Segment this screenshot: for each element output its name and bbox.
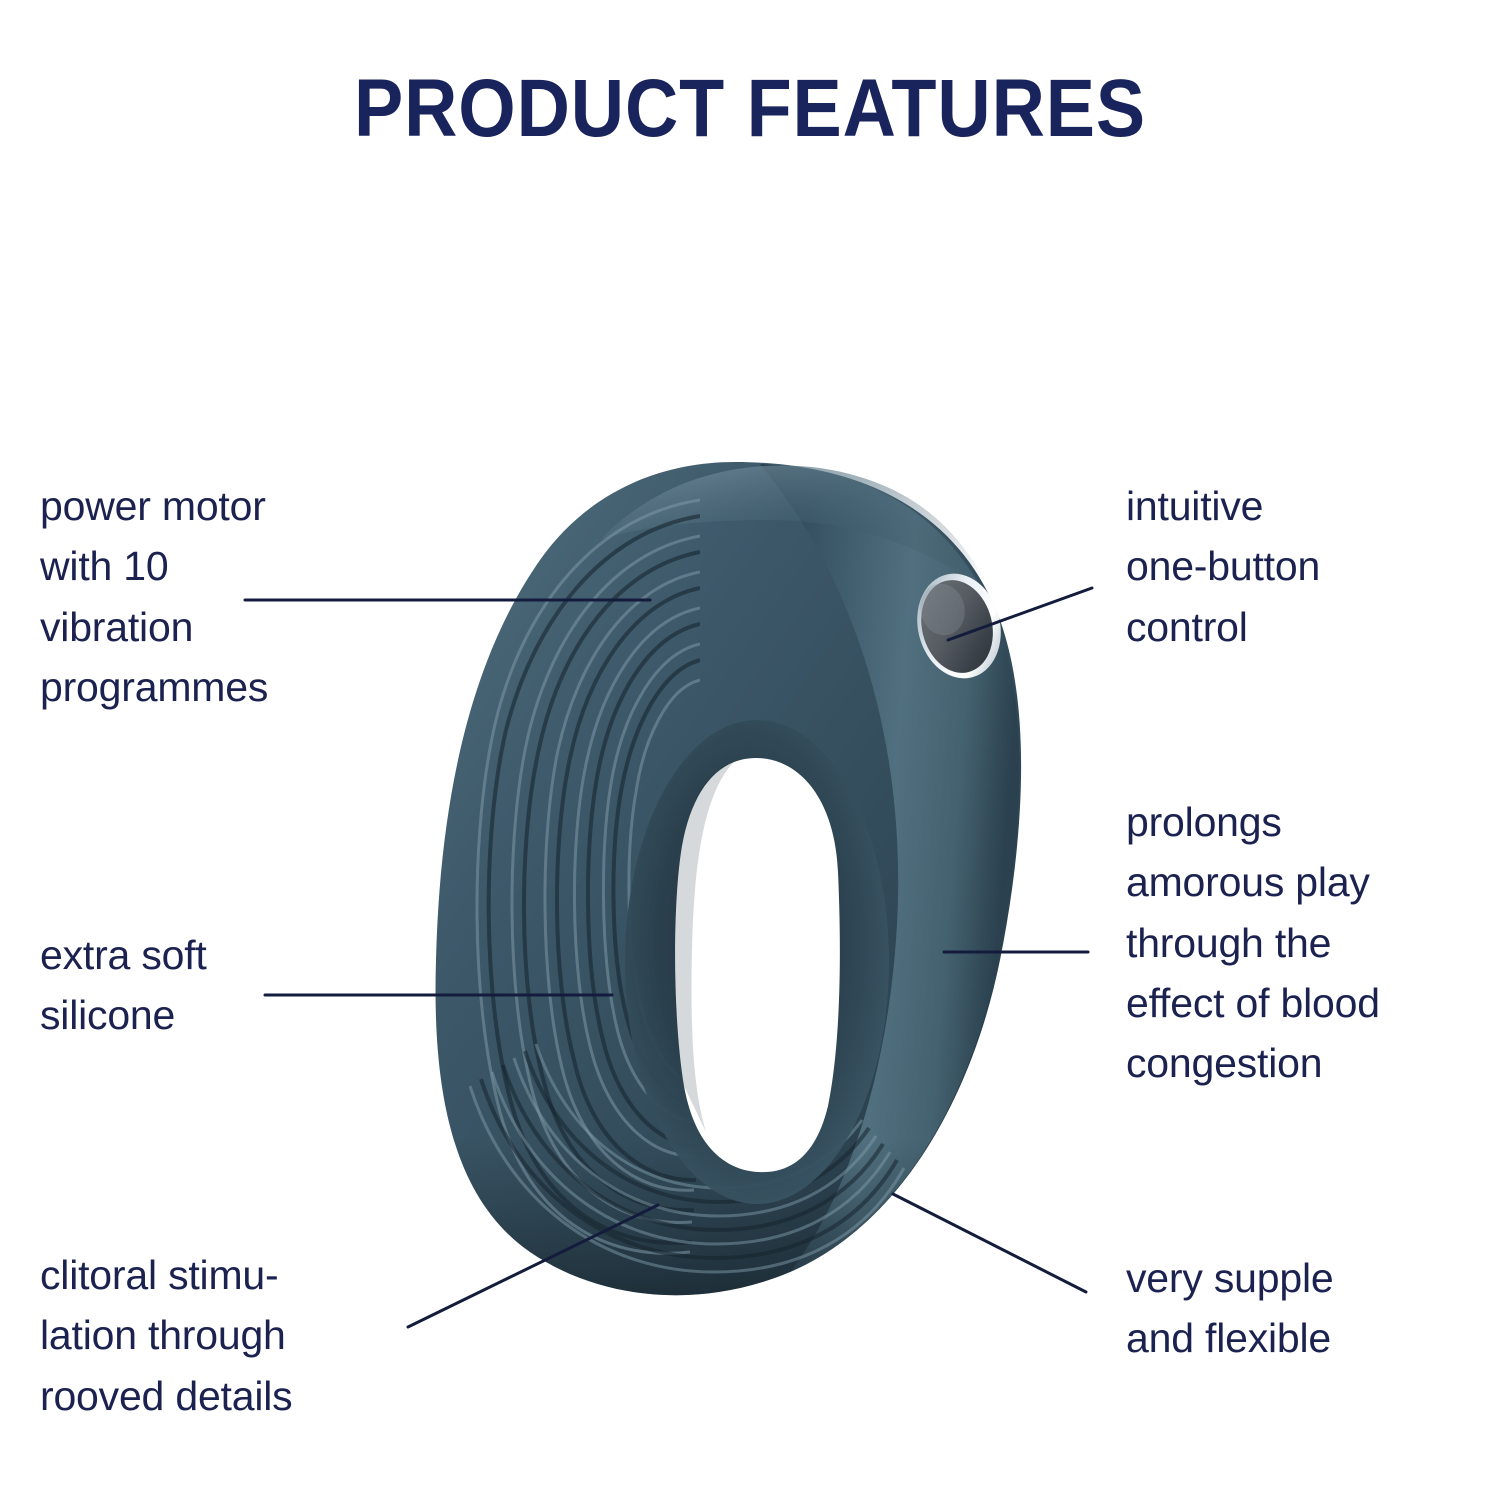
body-silhouette — [436, 462, 1022, 1295]
callout-clitoral-stimulation: clitoral stimu- lation through rooved de… — [40, 1245, 440, 1426]
callout-power-motor: power motor with 10 vibration programmes — [40, 476, 420, 717]
inner-opening — [625, 720, 889, 1204]
leader-clitoral-stimulation — [408, 1205, 658, 1327]
ribbed-surface — [477, 500, 700, 1253]
hole — [675, 758, 840, 1172]
callout-supple-flexible: very supple and flexible — [1126, 1248, 1486, 1369]
bottom-shading — [420, 1140, 1040, 1320]
product-body — [420, 462, 1040, 1320]
callout-one-button-control: intuitive one-button control — [1126, 476, 1486, 657]
power-button-face — [912, 572, 1003, 680]
callout-blood-congestion: prolongs amorous play through the effect… — [1126, 792, 1496, 1093]
callout-extra-soft-silicone: extra soft silicone — [40, 925, 400, 1046]
power-button-gloss — [915, 579, 970, 640]
top-sheen — [600, 466, 992, 596]
bottom-ribs — [470, 1044, 904, 1272]
page-title: PRODUCT FEATURES — [75, 62, 1425, 156]
leader-supple-flexible — [893, 1194, 1086, 1292]
product-features-infographic: PRODUCT FEATURES — [0, 0, 1500, 1500]
power-button-rim — [906, 565, 1011, 688]
leader-one-button-control — [948, 588, 1092, 640]
power-button[interactable] — [906, 565, 1011, 688]
right-flank-highlight — [760, 464, 1019, 1272]
